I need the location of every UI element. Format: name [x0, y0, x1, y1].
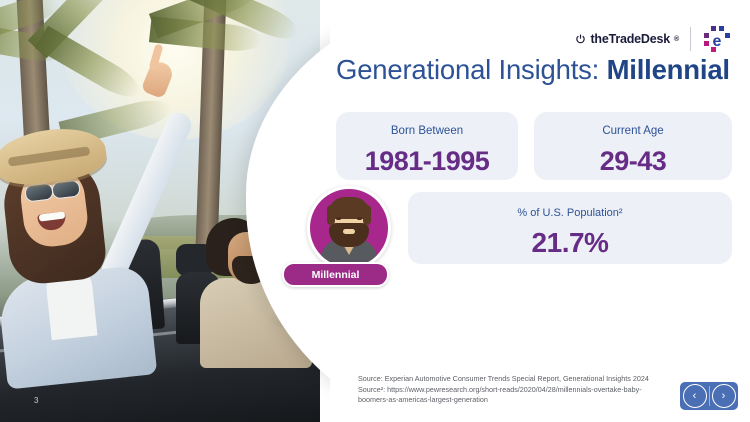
logo-divider	[690, 27, 691, 51]
page-title: Generational Insights: Millennial	[336, 54, 730, 86]
bearded-man-avatar-icon	[307, 186, 391, 270]
logo-bar: theTradeDesk ® e	[575, 24, 732, 54]
power-mark-icon	[575, 34, 586, 45]
generation-avatar: Millennial	[307, 186, 391, 270]
avatar-mouth	[343, 229, 355, 234]
stat-card-value: 1981-1995	[336, 148, 518, 175]
next-slide-button[interactable]: ›	[712, 384, 736, 408]
stat-card-born-between: Born Between 1981-1995	[336, 112, 518, 180]
stat-card-label: % of U.S. Population²	[408, 208, 732, 219]
slide-generational-insights-millennial: 3 theTradeDesk ® e Generational Insights…	[0, 0, 750, 422]
stat-card-value: 21.7%	[408, 229, 732, 257]
generation-badge: Millennial	[282, 262, 389, 287]
tradedesk-logo: theTradeDesk ®	[575, 32, 679, 46]
stat-card-label: Current Age	[534, 126, 732, 138]
page-number: 3	[34, 396, 38, 405]
stat-card-value: 29-43	[534, 148, 732, 175]
prev-slide-button[interactable]: ‹	[683, 384, 707, 408]
avatar-eye-right	[357, 217, 362, 220]
avatar-sideburn-left	[327, 205, 335, 225]
source-line-2: Source²: https://www.pewresearch.org/sho…	[358, 385, 688, 396]
stat-card-current-age: Current Age 29-43	[534, 112, 732, 180]
nav-divider	[709, 386, 710, 406]
source-line-1: Source: Experian Automotive Consumer Tre…	[358, 374, 688, 385]
tradedesk-wordmark: theTradeDesk	[590, 32, 670, 46]
avatar-sideburn-right	[363, 205, 371, 225]
page-title-emphasis: Millennial	[607, 54, 730, 85]
stat-card-us-population: % of U.S. Population² 21.7%	[408, 192, 732, 264]
svg-text:e: e	[713, 33, 722, 50]
avatar-eye-left	[336, 217, 341, 220]
page-title-prefix: Generational Insights:	[336, 54, 607, 85]
slide-navigation: ‹ ›	[680, 382, 738, 410]
stat-card-label: Born Between	[336, 126, 518, 138]
experian-e-icon: e	[702, 24, 732, 54]
source-footnote: Source: Experian Automotive Consumer Tre…	[358, 374, 688, 406]
source-line-3: boomers-as-americas-largest-generation	[358, 395, 688, 406]
trademark-symbol: ®	[674, 36, 679, 43]
